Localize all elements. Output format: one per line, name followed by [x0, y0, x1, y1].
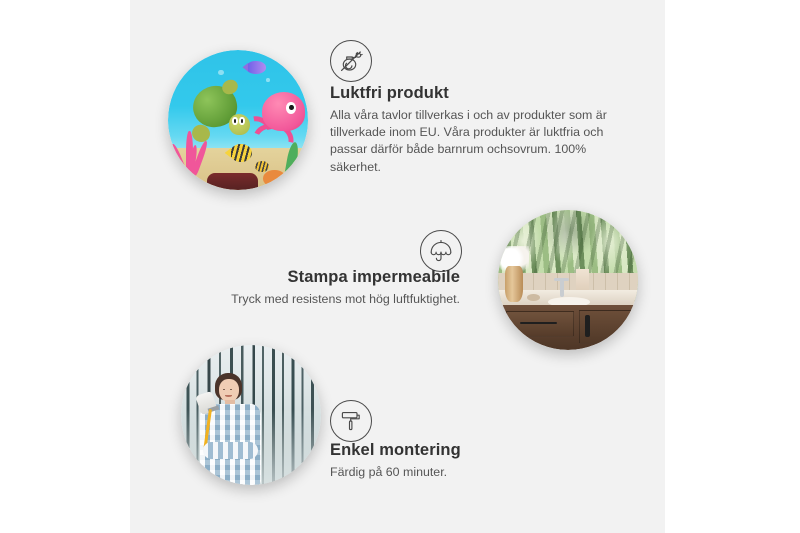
- bubble: [218, 70, 224, 76]
- no-perfume-spray-icon: [330, 40, 372, 82]
- starfish: [263, 170, 285, 187]
- octopus: [249, 92, 305, 151]
- feature-text-easy-mounting: Enkel montering Färdig på 60 minuter.: [330, 441, 630, 481]
- woman-paint-roller-forest-photo: [181, 345, 321, 485]
- coral: [174, 131, 216, 176]
- feature-body: Färdig på 60 minuter.: [330, 464, 630, 481]
- underwater-cartoon-photo: [168, 50, 308, 190]
- feature-text-odourless: Luktfri produkt Alla våra tavlor tillver…: [330, 84, 630, 176]
- bathroom-wallpaper-photo: [498, 210, 638, 350]
- paint-roller-icon: [330, 400, 372, 442]
- feature-body: Tryck med resistens mot hög luftfuktighe…: [140, 291, 460, 308]
- faucet: [560, 280, 564, 297]
- feature-text-waterproof: Stampa impermeabile Tryck med resistens …: [140, 268, 460, 308]
- feature-title: Enkel montering: [330, 441, 630, 460]
- woman-figure: [195, 373, 273, 485]
- feature-title: Luktfri produkt: [330, 84, 630, 103]
- gold-vase: [505, 266, 523, 302]
- yellow-striped-fish: [230, 144, 252, 162]
- seabed-rock: [207, 173, 257, 190]
- purple-fish: [246, 61, 266, 74]
- feature-title: Stampa impermeabile: [140, 268, 460, 287]
- screenshot-canvas: Luktfri produkt Alla våra tavlor tillver…: [0, 0, 800, 533]
- wooden-vanity: [498, 305, 638, 350]
- umbrella-icon: [420, 230, 462, 272]
- feature-body: Alla våra tavlor tillverkas i och av pro…: [330, 107, 630, 176]
- small-fish: [255, 161, 269, 172]
- soap-dish: [527, 294, 540, 301]
- bubble: [266, 78, 270, 82]
